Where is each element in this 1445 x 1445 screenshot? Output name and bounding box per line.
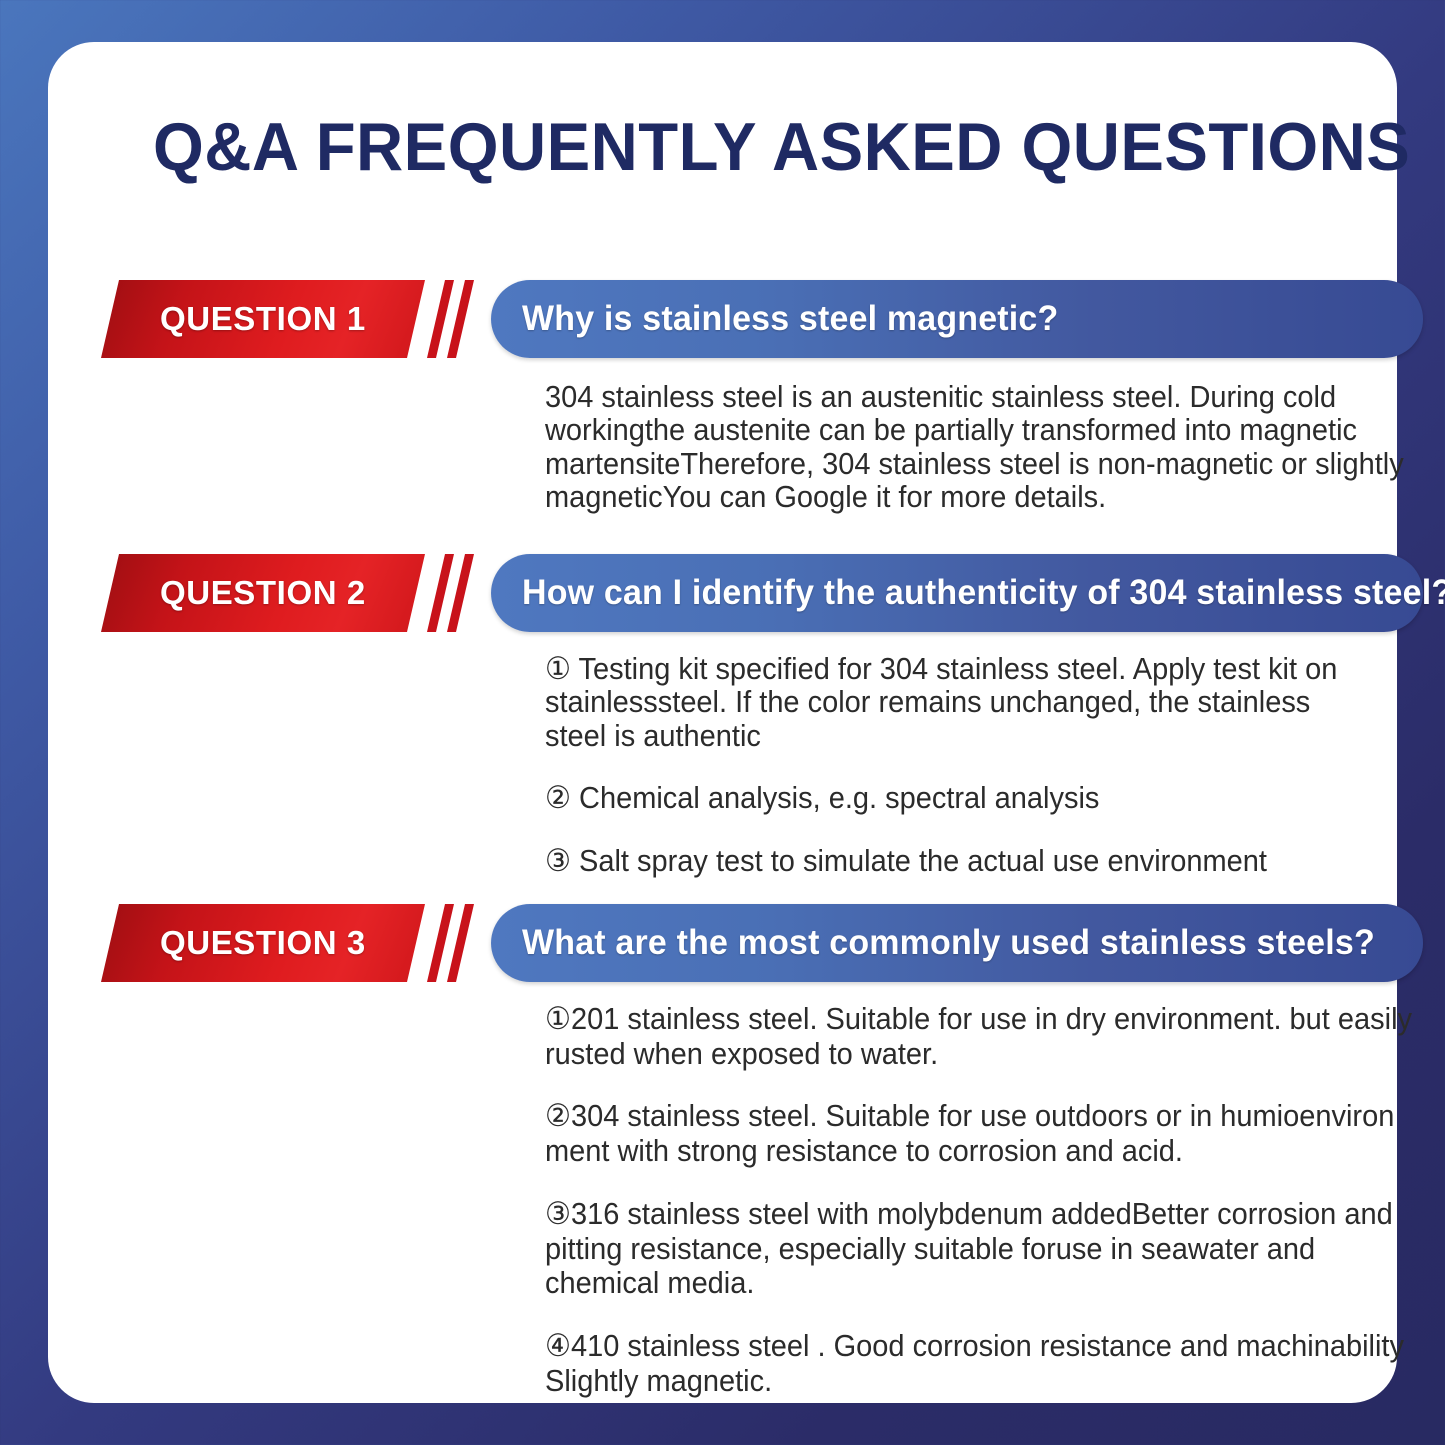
answer-paragraph: ③316 stainless steel with molybdenum add… <box>545 1197 1433 1301</box>
question-tag-label-3: QUESTION 3 <box>160 924 366 962</box>
question-pill-2[interactable]: How can I identify the authenticity of 3… <box>491 554 1423 632</box>
double-slash-icon-2 <box>434 554 480 632</box>
question-tag-2[interactable]: QUESTION 2 <box>101 554 425 632</box>
question-tag-label-2: QUESTION 2 <box>160 574 366 612</box>
answer-paragraph: ① Testing kit specified for 304 stainles… <box>545 652 1368 752</box>
question-tag-3[interactable]: QUESTION 3 <box>101 904 425 982</box>
question-pill-3[interactable]: What are the most commonly used stainles… <box>491 904 1423 982</box>
answer-body-2: ① Testing kit specified for 304 stainles… <box>545 652 1368 877</box>
page-title: Q&A FREQUENTLY ASKED QUESTIONS <box>153 108 1305 186</box>
double-slash-icon-3 <box>434 904 480 982</box>
question-tag-1[interactable]: QUESTION 1 <box>101 280 425 358</box>
answer-paragraph: 304 stainless steel is an austenitic sta… <box>545 380 1433 514</box>
faq-item-2: QUESTION 2 How can I identify the authen… <box>48 554 1397 632</box>
faq-item-3: QUESTION 3 What are the most commonly us… <box>48 904 1397 982</box>
question-text-3: What are the most commonly used stainles… <box>491 923 1402 963</box>
answer-body-3: ①201 stainless steel. Suitable for use i… <box>545 1002 1433 1398</box>
question-text-1: Why is stainless steel magnetic? <box>491 299 1086 339</box>
answer-paragraph: ③ Salt spray test to simulate the actual… <box>545 844 1368 877</box>
answer-paragraph: ②304 stainless steel. Suitable for use o… <box>545 1099 1433 1168</box>
faq-header-3: QUESTION 3 What are the most commonly us… <box>48 904 1397 982</box>
double-slash-icon-1 <box>434 280 480 358</box>
answer-body-1: 304 stainless steel is an austenitic sta… <box>545 380 1433 514</box>
faq-header-1: QUESTION 1 Why is stainless steel magnet… <box>48 280 1397 358</box>
question-tag-label-1: QUESTION 1 <box>160 300 366 338</box>
faq-header-2: QUESTION 2 How can I identify the authen… <box>48 554 1397 632</box>
question-pill-1[interactable]: Why is stainless steel magnetic? <box>491 280 1423 358</box>
answer-paragraph: ② Chemical analysis, e.g. spectral analy… <box>545 781 1368 814</box>
answer-paragraph: ④410 stainless steel . Good corrosion re… <box>545 1329 1433 1398</box>
question-text-2: How can I identify the authenticity of 3… <box>491 573 1445 613</box>
faq-card: Q&A FREQUENTLY ASKED QUESTIONS QUESTION … <box>48 42 1397 1403</box>
answer-paragraph: ①201 stainless steel. Suitable for use i… <box>545 1002 1433 1071</box>
faq-item-1: QUESTION 1 Why is stainless steel magnet… <box>48 280 1397 358</box>
